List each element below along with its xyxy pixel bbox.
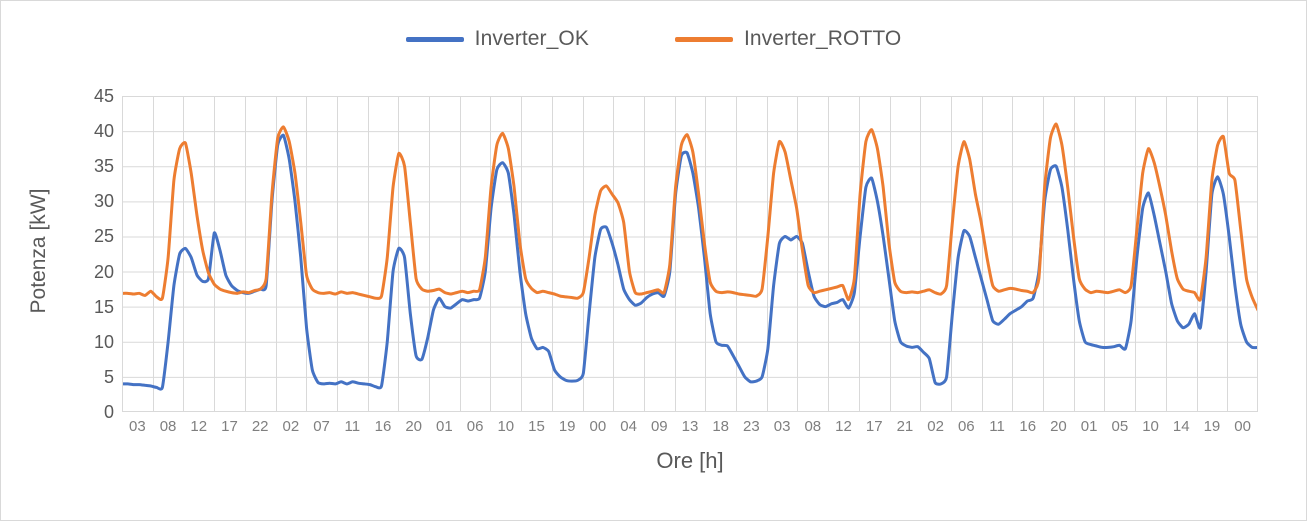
y-tick-label: 25 — [74, 227, 114, 245]
legend-item-inverter-ok[interactable]: Inverter_OK — [406, 27, 589, 51]
chart-legend: Inverter_OK Inverter_ROTTO — [1, 27, 1306, 51]
y-tick-label: 5 — [74, 368, 114, 386]
y-tick-label: 15 — [74, 298, 114, 316]
legend-item-inverter-rotto[interactable]: Inverter_ROTTO — [675, 27, 901, 51]
y-axis-title-text: Potenza [kW] — [27, 111, 51, 391]
legend-label-inverter-ok: Inverter_OK — [475, 27, 589, 51]
y-tick-label: 30 — [74, 192, 114, 210]
y-tick-label: 40 — [74, 122, 114, 140]
data-series — [122, 124, 1258, 389]
y-tick-label: 35 — [74, 157, 114, 175]
legend-swatch-inverter-rotto — [675, 37, 733, 42]
y-tick-label: 10 — [74, 333, 114, 351]
x-tick-label: 00 — [1225, 419, 1261, 434]
legend-label-inverter-rotto: Inverter_ROTTO — [744, 27, 901, 51]
y-axis-title: Potenza [kW] — [27, 0, 51, 111]
y-tick-label: 20 — [74, 263, 114, 281]
plot-svg — [122, 96, 1258, 412]
x-axis-title: Ore [h] — [122, 448, 1258, 474]
y-axis-tick-labels: 051015202530354045 — [64, 96, 114, 412]
chart-container: Inverter_OK Inverter_ROTTO Potenza [kW] … — [0, 0, 1307, 521]
x-axis-tick-labels: 0308121722020711162001061015190004091318… — [122, 419, 1258, 441]
y-tick-label: 45 — [74, 87, 114, 105]
series-line-inverter-rotto — [122, 124, 1258, 310]
legend-swatch-inverter-ok — [406, 37, 464, 42]
plot-area — [122, 96, 1258, 412]
series-line-inverter-ok — [122, 135, 1258, 389]
y-tick-label: 0 — [74, 403, 114, 421]
